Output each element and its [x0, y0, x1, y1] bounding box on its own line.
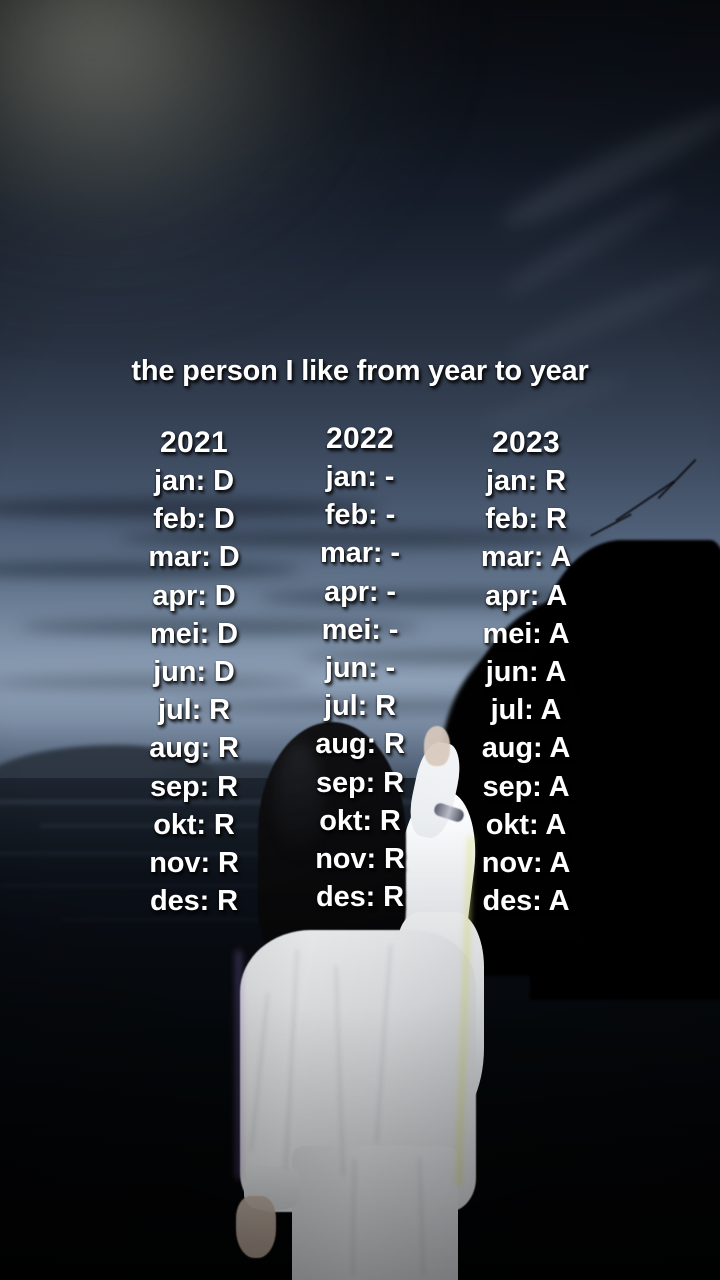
month-entry: jan: R — [443, 462, 609, 500]
month-entry: apr: - — [277, 573, 443, 611]
year-heading: 2021 — [111, 424, 277, 462]
month-entry: aug: A — [443, 729, 609, 767]
year-columns: 2021 jan: D feb: D mar: D apr: D mei: D … — [0, 424, 720, 920]
month-list: jan: D feb: D mar: D apr: D mei: D jun: … — [111, 462, 277, 920]
month-entry: aug: R — [111, 729, 277, 767]
month-list: jan: R feb: R mar: A apr: A mei: A jun: … — [443, 462, 609, 920]
year-column-2022: 2022 jan: - feb: - mar: - apr: - mei: - … — [277, 420, 443, 920]
month-entry: des: R — [277, 878, 443, 916]
year-column-2021: 2021 jan: D feb: D mar: D apr: D mei: D … — [111, 424, 277, 920]
month-entry: nov: R — [277, 840, 443, 878]
month-entry: jul: R — [277, 687, 443, 725]
year-heading: 2023 — [443, 424, 609, 462]
month-entry: sep: R — [111, 768, 277, 806]
month-entry: apr: A — [443, 577, 609, 615]
month-entry: mei: D — [111, 615, 277, 653]
page-title: the person I like from year to year — [0, 355, 720, 388]
month-entry: okt: R — [277, 802, 443, 840]
month-entry: sep: A — [443, 768, 609, 806]
month-entry: mei: A — [443, 615, 609, 653]
month-entry: mei: - — [277, 611, 443, 649]
year-heading: 2022 — [277, 420, 443, 458]
month-entry: sep: R — [277, 764, 443, 802]
month-entry: mar: D — [111, 538, 277, 576]
year-column-2023: 2023 jan: R feb: R mar: A apr: A mei: A … — [443, 424, 609, 920]
month-entry: okt: A — [443, 806, 609, 844]
month-entry: feb: R — [443, 500, 609, 538]
month-entry: feb: D — [111, 500, 277, 538]
month-entry: mar: - — [277, 534, 443, 572]
month-entry: jun: - — [277, 649, 443, 687]
month-entry: jan: D — [111, 462, 277, 500]
month-entry: jan: - — [277, 458, 443, 496]
month-entry: jun: A — [443, 653, 609, 691]
month-entry: aug: R — [277, 725, 443, 763]
month-entry: apr: D — [111, 577, 277, 615]
month-entry: mar: A — [443, 538, 609, 576]
month-entry: feb: - — [277, 496, 443, 534]
month-entry: okt: R — [111, 806, 277, 844]
month-entry: jul: R — [111, 691, 277, 729]
month-list: jan: - feb: - mar: - apr: - mei: - jun: … — [277, 458, 443, 916]
month-entry: des: A — [443, 882, 609, 920]
month-entry: jun: D — [111, 653, 277, 691]
month-entry: des: R — [111, 882, 277, 920]
month-entry: nov: A — [443, 844, 609, 882]
month-entry: nov: R — [111, 844, 277, 882]
month-entry: jul: A — [443, 691, 609, 729]
screenshot-canvas: the person I like from year to year 2021… — [0, 0, 720, 1280]
text-overlay: the person I like from year to year 2021… — [0, 0, 720, 1280]
